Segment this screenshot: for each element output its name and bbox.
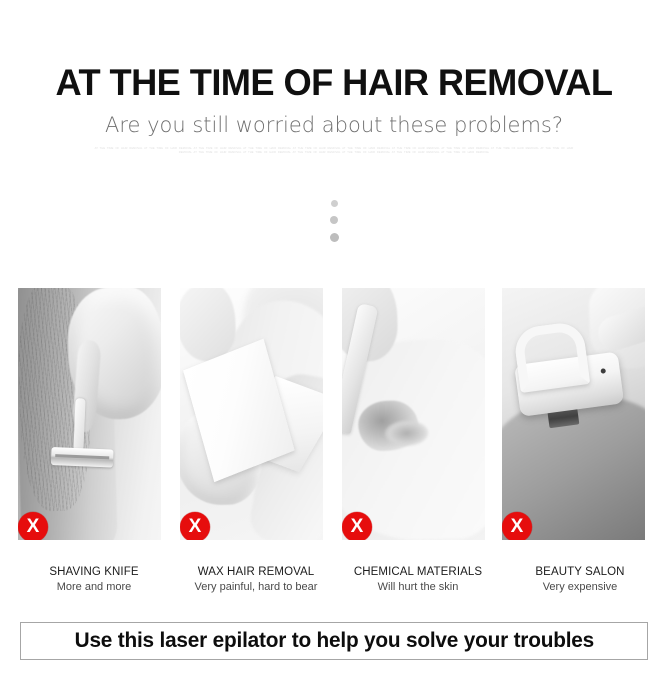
problem-panel-chemical-materials[interactable]: X [342, 288, 485, 540]
caption-beauty-salon: BEAUTY SALON Very expensive [496, 565, 664, 595]
problem-panel-shaving-knife[interactable]: X [18, 288, 161, 540]
photo-beauty-salon [502, 288, 645, 540]
page-title: AT THE TIME OF HAIR REMOVAL [7, 64, 662, 101]
caption-title: CHEMICAL MATERIALS [334, 565, 502, 580]
caption-title: WAX HAIR REMOVAL [172, 565, 340, 580]
x-badge-icon: X [180, 512, 210, 540]
decorative-micro-text: AT THE TIME OF HAIR REMOVAL AT THE TIME … [0, 147, 668, 155]
photo-shaving-knife [18, 288, 161, 540]
caption-chemical-materials: CHEMICAL MATERIALS Will hurt the skin [334, 565, 502, 595]
x-badge-icon: X [18, 512, 48, 540]
caption-subtitle: Will hurt the skin [334, 580, 502, 595]
ellipsis-dots [0, 200, 668, 242]
x-badge-icon: X [342, 512, 372, 540]
problem-panel-row: X X [0, 288, 668, 556]
caption-title: SHAVING KNIFE [10, 565, 178, 580]
photo-chemical-materials [342, 288, 485, 540]
caption-row: SHAVING KNIFE More and more WAX HAIR REM… [0, 565, 668, 607]
photo-wax-hair-removal [180, 288, 323, 540]
caption-subtitle: Very expensive [496, 580, 664, 595]
problem-panel-beauty-salon[interactable]: X [502, 288, 645, 540]
dot-icon [330, 216, 338, 224]
call-to-action-banner[interactable]: Use this laser epilator to help you solv… [20, 622, 648, 660]
caption-title: BEAUTY SALON [496, 565, 664, 580]
header-section: AT THE TIME OF HAIR REMOVAL Are you stil… [0, 0, 668, 185]
caption-wax-hair-removal: WAX HAIR REMOVAL Very painful, hard to b… [172, 565, 340, 595]
caption-subtitle: Very painful, hard to bear [172, 580, 340, 595]
caption-shaving-knife: SHAVING KNIFE More and more [10, 565, 178, 595]
call-to-action-text: Use this laser epilator to help you solv… [74, 629, 593, 653]
problem-panel-wax-hair-removal[interactable]: X [180, 288, 323, 540]
caption-subtitle: More and more [10, 580, 178, 595]
page-subtitle: Are you still worried about these proble… [0, 114, 668, 137]
dot-icon [330, 233, 339, 242]
dot-icon [331, 200, 338, 207]
x-badge-icon: X [502, 512, 532, 540]
